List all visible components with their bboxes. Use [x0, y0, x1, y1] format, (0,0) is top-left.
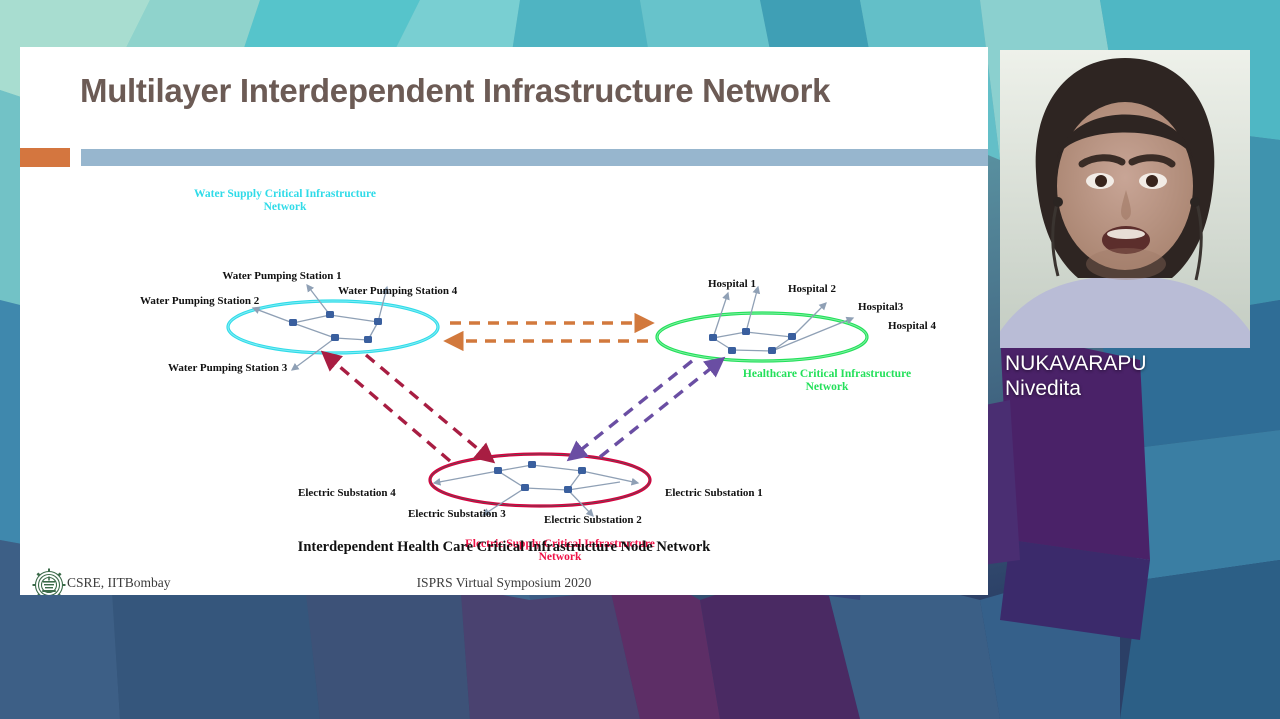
diagram-caption: Interdependent Health Care Critical Infr…: [20, 539, 988, 556]
svg-text:Hospital 4: Hospital 4: [888, 320, 936, 332]
video-call-screen: Multilayer Interdependent Infrastructure…: [0, 0, 1280, 719]
participant-video-tile[interactable]: [1000, 50, 1250, 348]
participant-first-name: Nivedita: [1005, 377, 1265, 402]
svg-text:Network: Network: [806, 381, 849, 393]
infrastructure-network-diagram: Water Supply Critical Infrastructure Net…: [20, 175, 988, 595]
accent-bar-orange: [20, 148, 70, 167]
svg-text:Hospital 2: Hospital 2: [788, 283, 836, 295]
svg-text:Electric Substation 1: Electric Substation 1: [665, 487, 763, 499]
svg-text:Water Pumping Station 2: Water Pumping Station 2: [140, 295, 260, 307]
svg-text:Network: Network: [264, 201, 307, 213]
svg-text:Water Pumping Station 4: Water Pumping Station 4: [338, 285, 458, 297]
svg-text:Electric Substation 3: Electric Substation 3: [408, 508, 506, 520]
svg-text:Electric Substation 2: Electric Substation 2: [544, 514, 642, 526]
svg-text:Water Pumping Station 1: Water Pumping Station 1: [222, 270, 341, 282]
svg-text:Healthcare Critical Infrastruc: Healthcare Critical Infrastructure: [743, 368, 911, 380]
svg-text:Hospital 1: Hospital 1: [708, 278, 756, 290]
participant-last-name: NUKAVARAPU: [1005, 352, 1147, 375]
svg-text:Electric Substation 4: Electric Substation 4: [298, 487, 396, 499]
svg-text:Water Pumping Station 3: Water Pumping Station 3: [168, 362, 288, 374]
svg-text:Hospital3: Hospital3: [858, 301, 904, 313]
healthcare-network-group: Hospital 1 Hospital 2 Hospital3 Hospital…: [657, 278, 936, 393]
footer-event: ISPRS Virtual Symposium 2020: [20, 575, 988, 591]
participant-name-label: NUKAVARAPU Nivedita: [1005, 352, 1265, 402]
water-network-group: Water Supply Critical Infrastructure Net…: [140, 188, 458, 374]
accent-bar-blue: [81, 149, 988, 166]
slide-title: Multilayer Interdependent Infrastructure…: [80, 73, 980, 109]
presentation-slide[interactable]: Multilayer Interdependent Infrastructure…: [20, 47, 988, 595]
svg-text:Water Supply Critical Infrastr: Water Supply Critical Infrastructure: [194, 188, 376, 200]
